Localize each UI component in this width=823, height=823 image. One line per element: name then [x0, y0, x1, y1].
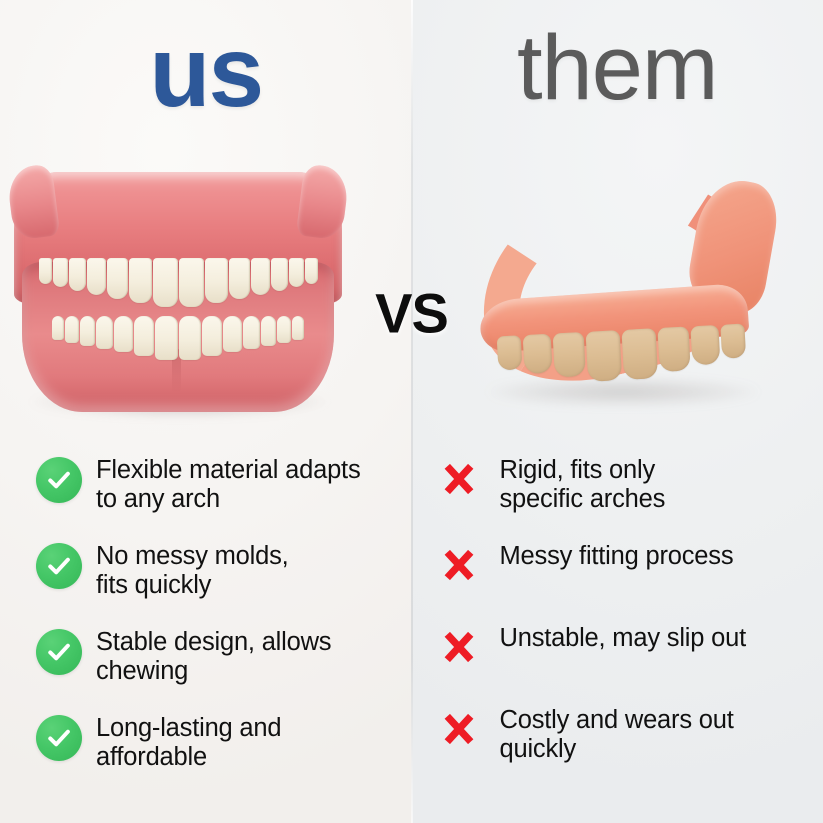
tooth [261, 316, 276, 346]
tooth [202, 316, 223, 356]
tooth [179, 258, 204, 307]
check-circle-icon [36, 629, 82, 675]
tooth [205, 258, 228, 303]
tooth [305, 258, 318, 284]
list-item-label: Long-lasting and affordable [96, 713, 281, 771]
panel-divider [411, 0, 413, 823]
single-denture-image [458, 174, 778, 414]
list-item-label: Stable design, allows chewing [96, 627, 331, 685]
feature-list-us: Flexible material adapts to any arch No … [0, 455, 412, 799]
product-stage-us [0, 150, 412, 450]
page-title-them: them [412, 22, 823, 114]
tooth [292, 316, 304, 340]
tooth [39, 258, 52, 284]
tooth [80, 316, 95, 346]
tooth [277, 316, 291, 343]
tooth [585, 330, 622, 382]
cross-mark-icon [436, 456, 482, 502]
list-item: Unstable, may slip out [436, 623, 808, 705]
cross-mark-icon [436, 706, 482, 752]
tooth [621, 328, 658, 380]
product-stage-them [412, 150, 823, 450]
tooth [114, 316, 133, 352]
tooth [523, 334, 552, 374]
tooth [153, 258, 178, 307]
feature-list-them: Rigid, fits only specific arches Messy f… [412, 455, 823, 791]
list-item-label: Flexible material adapts to any arch [96, 455, 361, 513]
tooth [129, 258, 152, 303]
panel-us: us Flexible material adapts to any arch [0, 0, 412, 823]
list-item: Stable design, allows chewing [36, 627, 396, 713]
tooth [87, 258, 106, 295]
panel-them: them Rigid, fits only specific arches [412, 0, 823, 823]
list-item-label: Rigid, fits only specific arches [500, 455, 666, 513]
tooth [497, 335, 523, 370]
vs-label: VS [375, 281, 448, 346]
tooth [52, 316, 64, 340]
tooth [243, 316, 260, 349]
tooth [155, 316, 177, 360]
tooth [65, 316, 79, 343]
check-circle-icon [36, 543, 82, 589]
upper-flange-right [296, 163, 350, 240]
tooth [53, 258, 68, 287]
tooth [96, 316, 113, 349]
list-item: Costly and wears out quickly [436, 705, 808, 791]
tooth [251, 258, 270, 295]
tooth [134, 316, 155, 356]
list-item-label: Messy fitting process [500, 541, 734, 571]
comparison-infographic: us Flexible material adapts to any arch [0, 0, 823, 823]
tooth [271, 258, 288, 291]
list-item: No messy molds, fits quickly [36, 541, 396, 627]
tooth [657, 326, 690, 372]
upper-teeth-row [32, 258, 324, 316]
tooth [229, 258, 250, 299]
tooth [179, 316, 201, 360]
list-item: Long-lasting and affordable [36, 713, 396, 799]
lower-teeth-row [38, 316, 318, 368]
cross-mark-icon [436, 624, 482, 670]
list-item: Rigid, fits only specific arches [436, 455, 808, 541]
tooth [719, 324, 745, 359]
list-item-label: Costly and wears out quickly [500, 705, 734, 763]
list-item-label: Unstable, may slip out [500, 623, 746, 653]
list-item-label: No messy molds, fits quickly [96, 541, 289, 599]
tooth [107, 258, 128, 299]
check-circle-icon [36, 457, 82, 503]
tooth [69, 258, 86, 291]
full-denture-set-image [8, 170, 348, 415]
tooth [552, 332, 585, 378]
cross-mark-icon [436, 542, 482, 588]
tooth [289, 258, 304, 287]
list-item: Flexible material adapts to any arch [36, 455, 396, 541]
tooth [223, 316, 242, 352]
tooth [690, 325, 719, 365]
check-circle-icon [36, 715, 82, 761]
page-title-us: us [0, 22, 412, 122]
list-item: Messy fitting process [436, 541, 808, 623]
